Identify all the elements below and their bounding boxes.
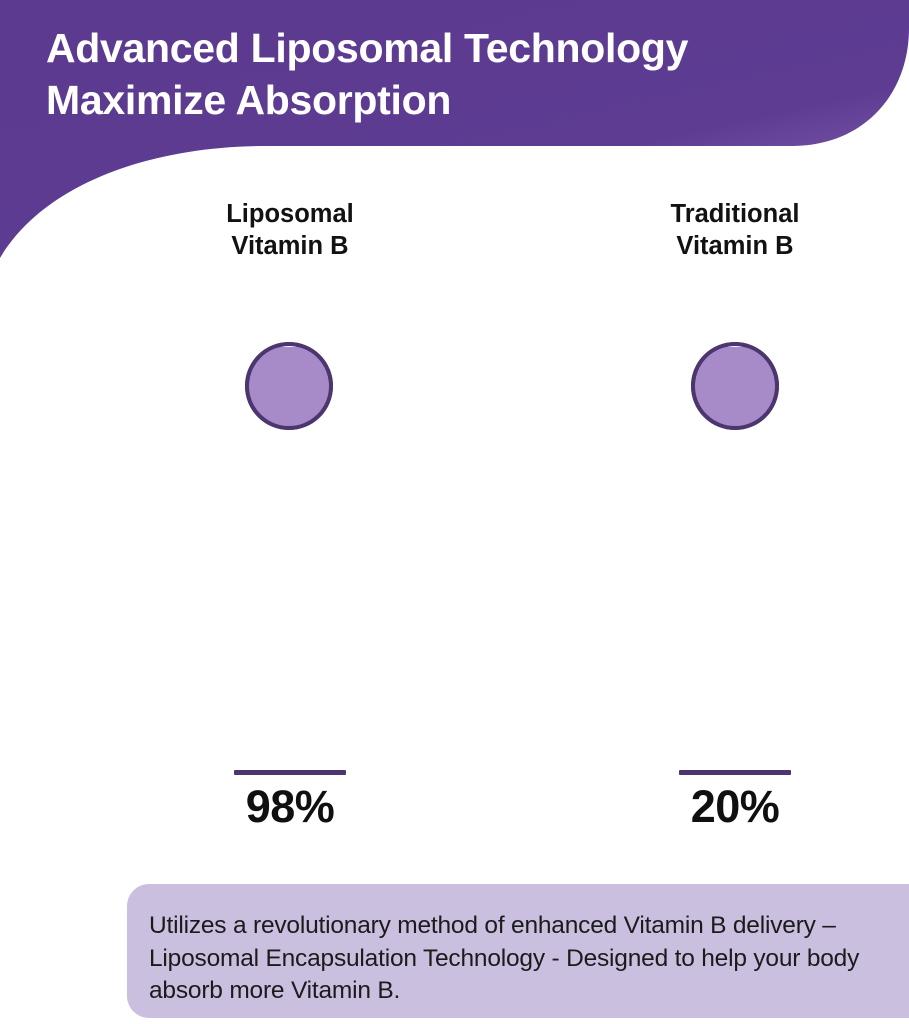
- human-figure-icon-filled: [99, 300, 479, 770]
- column-label-traditional: Traditional Vitamin B: [585, 198, 885, 262]
- page-title: Advanced Liposomal Technology Maximize A…: [46, 22, 846, 127]
- figure-traditional: [545, 300, 909, 770]
- percent-value-traditional: 20%: [585, 783, 885, 830]
- caption-panel: Utilizes a revolutionary method of enhan…: [127, 884, 909, 1018]
- caption-text: Utilizes a revolutionary method of enhan…: [149, 910, 885, 1008]
- percent-rule: [234, 770, 346, 775]
- percent-value-liposomal: 98%: [140, 783, 440, 830]
- figure-body-outline: [121, 438, 457, 748]
- percent-block-liposomal: 98%: [140, 770, 440, 830]
- column-label-liposomal: Liposomal Vitamin B: [140, 198, 440, 262]
- human-figure-icon-outline: [545, 300, 909, 770]
- infographic-page: Advanced Liposomal Technology Maximize A…: [0, 0, 909, 1024]
- figure-body-outline: [567, 438, 903, 748]
- figure-liposomal: [99, 300, 479, 770]
- percent-block-traditional: 20%: [585, 770, 885, 830]
- percent-rule: [679, 770, 791, 775]
